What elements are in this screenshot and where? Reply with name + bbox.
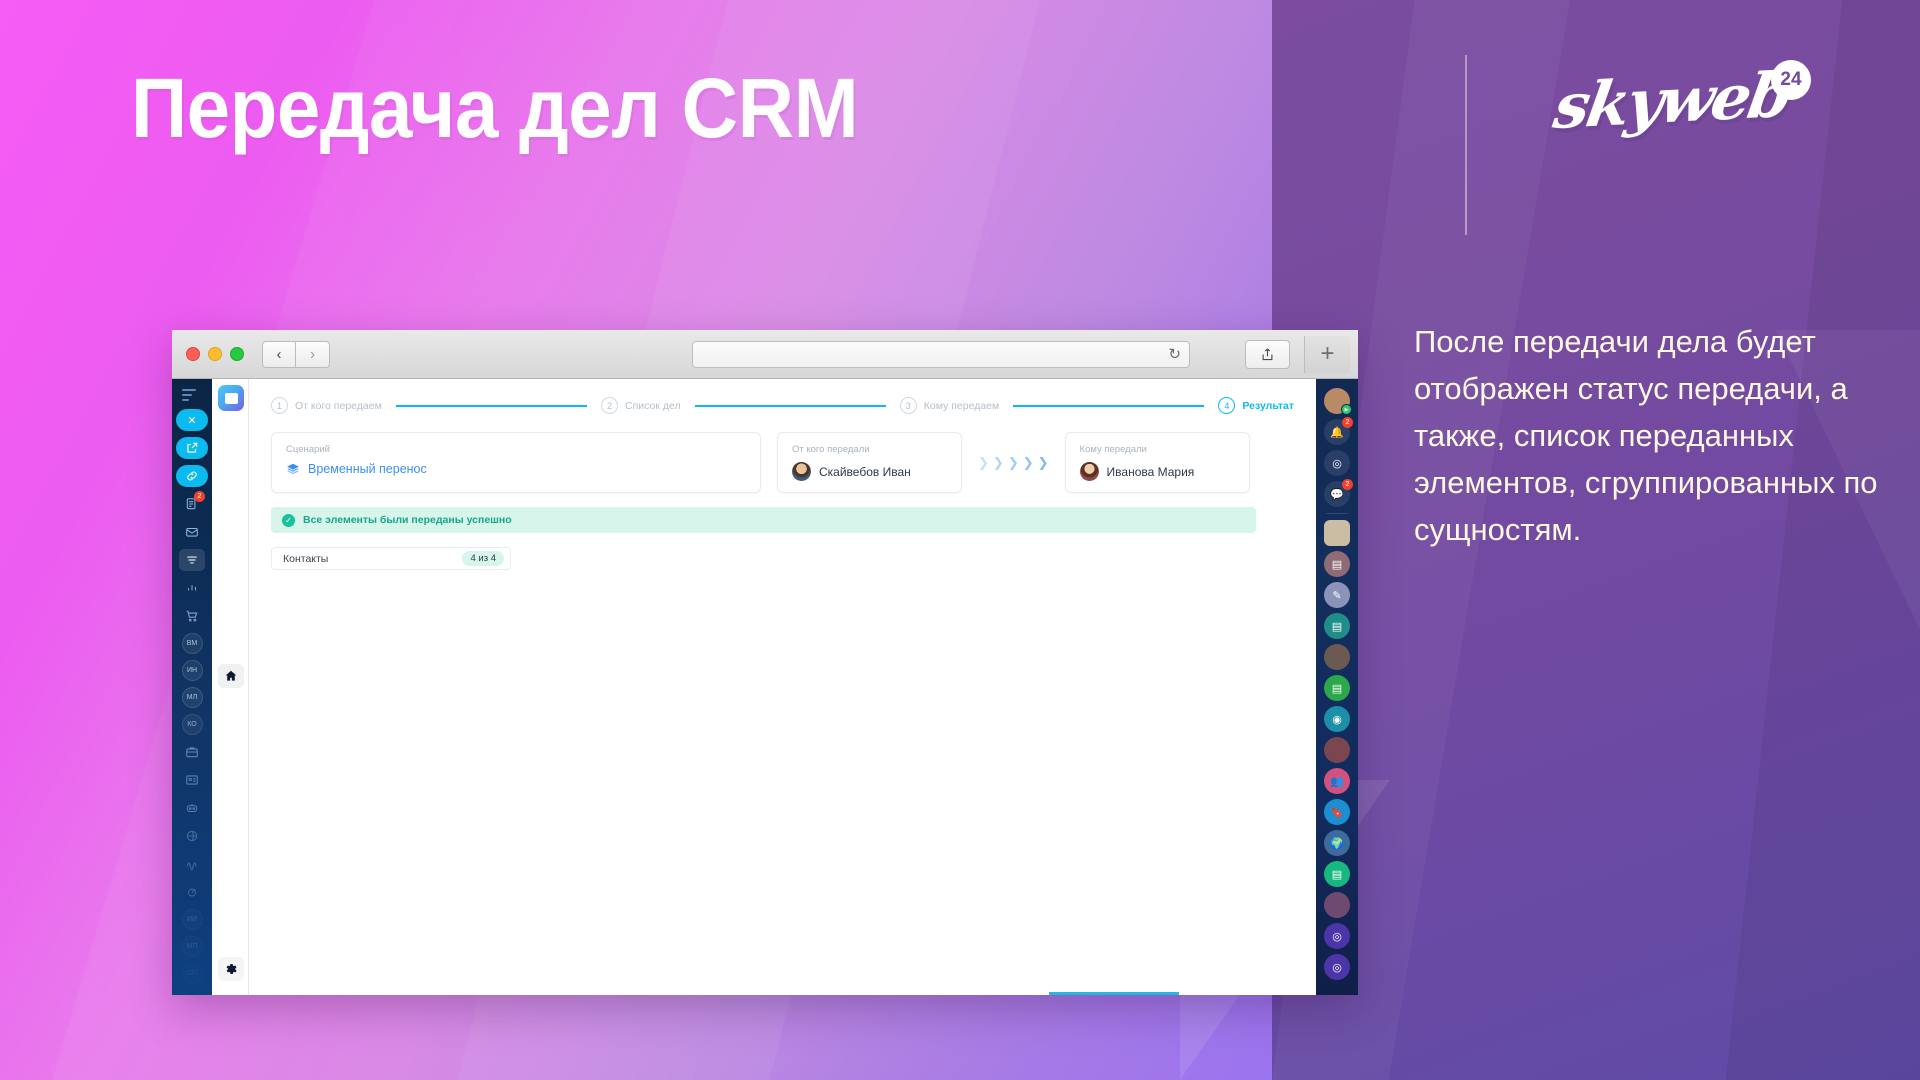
transfer-arrows: ❯ ❯ ❯ ❯ ❯	[962, 432, 1065, 493]
rail-divider	[1326, 513, 1348, 514]
home-icon[interactable]	[218, 664, 244, 688]
crm-app-column	[212, 379, 249, 995]
step-connector-1	[396, 405, 587, 407]
user-avatar[interactable]: ▶	[1324, 388, 1350, 414]
card-gap	[761, 432, 777, 493]
step-connector-3	[1013, 405, 1204, 407]
person-photo-avatar[interactable]	[1324, 644, 1350, 670]
app-purple-1-icon[interactable]: ◎	[1324, 923, 1350, 949]
maximize-window-button[interactable]	[230, 347, 244, 361]
crm-main-content: 1 От кого передаем 2 Список дел 3 Кому п…	[249, 379, 1316, 995]
scenario-card: Сценарий Временный перенос	[271, 432, 761, 493]
status-badge: 4 из 4	[462, 551, 504, 566]
chat-icon[interactable]: 💬 2	[1324, 481, 1350, 507]
contact-avatar[interactable]	[1324, 520, 1350, 546]
sidebar-item-feed[interactable]	[179, 549, 205, 571]
page-title: Передача дел CRM	[131, 60, 858, 157]
sidebar-item-notes[interactable]: 2	[179, 493, 205, 515]
crm-app-icon[interactable]	[218, 385, 244, 411]
logo-wordmark: skyweb	[1549, 58, 1795, 143]
list-item[interactable]: Контакты 4 из 4	[271, 547, 511, 570]
window-traffic-lights	[186, 347, 244, 361]
robot-bot-icon[interactable]: ◉	[1324, 706, 1350, 732]
sidebar-initials-in[interactable]: ИН	[182, 660, 203, 681]
browser-chrome: ‹ › ↻ +	[172, 330, 1358, 379]
step-1[interactable]: 1 От кого передаем	[271, 397, 382, 414]
step-3-label: Кому передаем	[924, 400, 999, 412]
sidebar-item-cart[interactable]	[179, 605, 205, 627]
sidebar-initials-ml[interactable]: МЛ	[182, 687, 203, 708]
logo-badge-24: 24	[1771, 60, 1811, 100]
gear-icon[interactable]	[218, 957, 244, 981]
minimize-window-button[interactable]	[208, 347, 222, 361]
scenario-value: Временный перенос	[308, 462, 427, 476]
portrait-avatar[interactable]	[1324, 892, 1350, 918]
reload-icon[interactable]: ↻	[1168, 345, 1181, 363]
from-person-name: Скайвебов Иван	[819, 465, 911, 479]
crm-right-rail: ▶ 🔔 2 ◎ 💬 2 ▤ ✎ ▤ ▤ ◉ 👥 🔖 🌍 ▤ ◎ ◎	[1316, 379, 1358, 995]
entity-name: Контакты	[283, 553, 328, 565]
success-banner-text: Все элементы были переданы успешно	[303, 514, 512, 526]
scenario-value-row: Временный перенос	[286, 462, 746, 476]
sidebar-item-close[interactable]: ✕	[176, 409, 208, 431]
browser-viewport: ✕ 2 ВМ ИН МЛ	[172, 379, 1358, 995]
notes-badge-count: 2	[194, 491, 205, 502]
step-1-label: От кого передаем	[295, 400, 382, 412]
sidebar-initials-mp[interactable]: МП	[182, 936, 203, 957]
step-connector-2	[695, 405, 886, 407]
sidebar-initials-sp[interactable]: СП	[182, 963, 203, 984]
new-tab-button[interactable]: +	[1304, 336, 1350, 373]
share-icon[interactable]	[1245, 340, 1290, 369]
paint-icon[interactable]: ✎	[1324, 582, 1350, 608]
sidebar-item-target-icon[interactable]	[179, 881, 205, 903]
news-icon[interactable]: ▤	[1324, 861, 1350, 887]
people-group-icon[interactable]: 👥	[1324, 768, 1350, 794]
navigation-buttons: ‹ ›	[262, 341, 330, 368]
app-purple-2-icon[interactable]: ◎	[1324, 954, 1350, 980]
card-teal-icon[interactable]: ▤	[1324, 613, 1350, 639]
success-banner: ✓ Все элементы были переданы успешно	[271, 507, 1256, 533]
skyweb-logo: skyweb 24	[1556, 64, 1816, 162]
check-circle-icon: ✓	[282, 514, 295, 527]
notifications-bell-icon[interactable]: 🔔 2	[1324, 419, 1350, 445]
sidebar-initials-ii[interactable]: ИИ	[182, 909, 203, 930]
slide-caption: После передачи дела будет отображен стат…	[1414, 318, 1894, 553]
bookmark-icon[interactable]: 🔖	[1324, 799, 1350, 825]
sidebar-item-analytics[interactable]	[179, 577, 205, 599]
from-person-card: От кого передали Скайвебов Иван	[777, 432, 962, 493]
browser-window: ‹ › ↻ + ✕ 2	[172, 330, 1358, 995]
sidebar-item-link[interactable]	[176, 465, 208, 487]
to-person-value-row: Иванова Мария	[1080, 462, 1235, 481]
step-4-number: 4	[1218, 397, 1235, 414]
online-status-icon: ▶	[1341, 404, 1352, 415]
activity-stream-icon[interactable]: ◎	[1324, 450, 1350, 476]
step-2-label: Список дел	[625, 400, 681, 412]
step-3-number: 3	[900, 397, 917, 414]
sidebar-initials-vm[interactable]: ВМ	[182, 633, 203, 654]
sidebar-item-signature-icon[interactable]	[179, 853, 205, 875]
logo-divider	[1465, 55, 1467, 235]
summary-cards-row: Сценарий Временный перенос От кого перед…	[271, 432, 1294, 493]
card-green-icon[interactable]: ▤	[1324, 675, 1350, 701]
chevron-right-icon: ❯	[978, 455, 989, 471]
to-person-card: Кому передали Иванова Мария	[1065, 432, 1250, 493]
from-person-label: От кого передали	[792, 444, 947, 455]
to-person-label: Кому передали	[1080, 444, 1235, 455]
transfer-stepper: 1 От кого передаем 2 Список дел 3 Кому п…	[271, 397, 1294, 414]
chevron-right-icon: ❯	[1008, 455, 1019, 471]
chevron-right-icon: ❯	[1023, 455, 1034, 471]
avatar	[792, 462, 811, 481]
sidebar-item-briefcase-icon[interactable]	[179, 741, 205, 763]
scenario-label: Сценарий	[286, 444, 746, 455]
step-2-number: 2	[601, 397, 618, 414]
woman-photo-avatar[interactable]	[1324, 737, 1350, 763]
horizontal-scrollbar[interactable]	[1049, 992, 1179, 995]
sidebar-item-mail[interactable]	[179, 521, 205, 543]
id-card-icon[interactable]: ▤	[1324, 551, 1350, 577]
step-4-label: Результат	[1242, 400, 1294, 412]
avatar	[1080, 462, 1099, 481]
bell-badge-count: 2	[1342, 417, 1353, 428]
sidebar-item-contacts-icon[interactable]	[179, 769, 205, 791]
sidebar-initials-ko[interactable]: КО	[182, 714, 203, 735]
world-photo-icon[interactable]: 🌍	[1324, 830, 1350, 856]
step-2[interactable]: 2 Список дел	[601, 397, 681, 414]
url-input[interactable]: ↻	[692, 341, 1190, 368]
crm-left-sidebar: ✕ 2 ВМ ИН МЛ	[172, 379, 212, 995]
from-person-value-row: Скайвебов Иван	[792, 462, 947, 481]
layers-icon	[286, 462, 300, 476]
forward-button[interactable]: ›	[296, 341, 330, 368]
step-1-number: 1	[271, 397, 288, 414]
step-4[interactable]: 4 Результат	[1218, 397, 1294, 414]
chat-badge-count: 2	[1342, 479, 1353, 490]
to-person-name: Иванова Мария	[1107, 465, 1195, 479]
step-3[interactable]: 3 Кому передаем	[900, 397, 999, 414]
sidebar-item-tasks[interactable]	[176, 437, 208, 459]
sidebar-item-globe-icon[interactable]	[179, 825, 205, 847]
chevron-right-icon: ❯	[1038, 455, 1049, 471]
back-button[interactable]: ‹	[262, 341, 296, 368]
close-window-button[interactable]	[186, 347, 200, 361]
sidebar-item-robot-icon[interactable]	[179, 797, 205, 819]
chevron-right-icon: ❯	[993, 455, 1004, 471]
menu-burger-icon[interactable]	[182, 389, 196, 401]
